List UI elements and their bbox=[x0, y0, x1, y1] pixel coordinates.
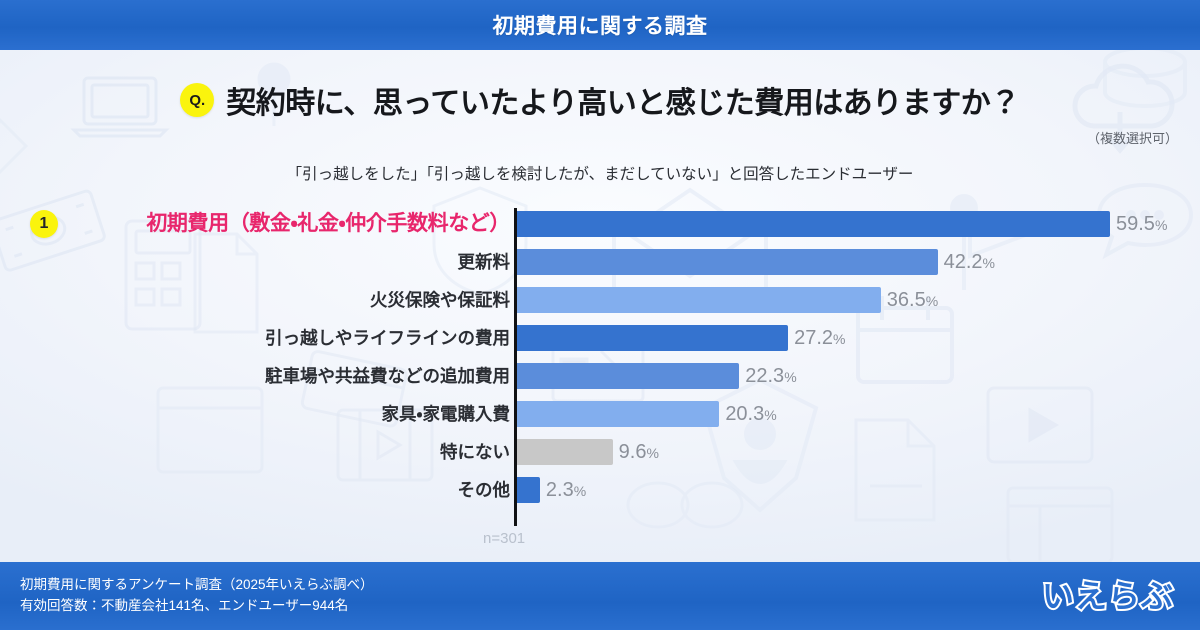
question-text: 契約時に、思っていたより高いと感じた費用はありますか？ bbox=[226, 78, 1020, 122]
chart-bar-value-number: 20.3 bbox=[725, 403, 764, 425]
chart-row-label: 引っ越しやライフラインの費用 bbox=[265, 325, 510, 351]
footer-source: 初期費用に関するアンケート調査（2025年いえらぶ調べ） 有効回答数：不動産会社… bbox=[20, 575, 374, 617]
chart-bar-value: 42.2% bbox=[944, 249, 995, 275]
chart-row: 特にない9.6% bbox=[0, 439, 1200, 465]
rank-badge: 1 bbox=[30, 210, 58, 238]
chart-bar bbox=[517, 401, 719, 427]
chart-row: 火災保険や保証料36.5% bbox=[0, 287, 1200, 313]
chart-row: 1初期費用（敷金・礼金・仲介手数料など）59.5% bbox=[0, 211, 1200, 237]
chart-bar bbox=[517, 439, 613, 465]
ielove-logo[interactable]: いえらぶ bbox=[1036, 576, 1180, 616]
chart-row-label: 火災保険や保証料 bbox=[370, 287, 510, 313]
chart-row-label: その他 bbox=[458, 477, 511, 503]
chart-row: 家具・家電購入費20.3% bbox=[0, 401, 1200, 427]
chart-bar-value-suffix: % bbox=[926, 293, 938, 309]
chart-row-label: 特にない bbox=[440, 439, 510, 465]
chart-bar-value-number: 36.5 bbox=[887, 289, 926, 311]
chart-bar-value-number: 2.3 bbox=[546, 479, 574, 501]
chart-row-label: 家具・家電購入費 bbox=[382, 401, 510, 427]
chart-bar-value: 22.3% bbox=[745, 363, 796, 389]
chart-bar bbox=[517, 363, 739, 389]
chart-subtitle: 「引っ越しをした」「引っ越しを検討したが、まだしていない」と回答したエンドユーザ… bbox=[0, 162, 1200, 184]
footer-bar: 初期費用に関するアンケート調査（2025年いえらぶ調べ） 有効回答数：不動産会社… bbox=[0, 562, 1200, 630]
sample-size-label: n=301 bbox=[483, 530, 525, 547]
chart-row-label: 更新料 bbox=[458, 249, 511, 275]
chart-bar bbox=[517, 249, 938, 275]
chart-bar-value-number: 59.5 bbox=[1116, 213, 1155, 235]
chart-bar-value-number: 9.6 bbox=[619, 441, 647, 463]
chart-bar-value-suffix: % bbox=[646, 445, 658, 461]
main-stage: Q. 契約時に、思っていたより高いと感じた費用はありますか？ （複数選択可） 「… bbox=[0, 50, 1200, 562]
page-title: 初期費用に関する調査 bbox=[493, 10, 708, 40]
chart-bar-value-number: 42.2 bbox=[944, 251, 983, 273]
chart-row-label: 初期費用（敷金・礼金・仲介手数料など） bbox=[146, 211, 510, 237]
chart-row: その他2.3% bbox=[0, 477, 1200, 503]
chart-bar-value-number: 27.2 bbox=[794, 327, 833, 349]
chart-row: 駐車場や共益費などの追加費用22.3% bbox=[0, 363, 1200, 389]
chart-bar-value: 20.3% bbox=[725, 401, 776, 427]
bar-chart: 1初期費用（敷金・礼金・仲介手数料など）59.5%更新料42.2%火災保険や保証… bbox=[0, 205, 1200, 525]
question-row: Q. 契約時に、思っていたより高いと感じた費用はありますか？ bbox=[0, 78, 1200, 122]
pen-icon bbox=[0, 110, 50, 200]
chart-row: 更新料42.2% bbox=[0, 249, 1200, 275]
chart-bar-value-suffix: % bbox=[983, 255, 995, 271]
chart-row: 引っ越しやライフラインの費用27.2% bbox=[0, 325, 1200, 351]
chart-bar-value-suffix: % bbox=[784, 369, 796, 385]
chart-bar bbox=[517, 211, 1110, 237]
question-badge: Q. bbox=[180, 83, 214, 117]
chart-bar-value-suffix: % bbox=[764, 407, 776, 423]
footer-line-2: 有効回答数：不動産会社141名、エンドユーザー944名 bbox=[20, 596, 374, 617]
chart-bar-value: 59.5% bbox=[1116, 211, 1167, 237]
chart-bar bbox=[517, 477, 540, 503]
multiple-choice-note: （複数選択可） bbox=[1087, 128, 1178, 147]
chart-bar-value: 36.5% bbox=[887, 287, 938, 313]
chart-bar-value: 2.3% bbox=[546, 477, 586, 503]
chart-row-label: 駐車場や共益費などの追加費用 bbox=[265, 363, 510, 389]
chart-bar bbox=[517, 287, 881, 313]
chart-bar-value-suffix: % bbox=[574, 483, 586, 499]
chart-bar-value-suffix: % bbox=[833, 331, 845, 347]
chart-bar-value: 27.2% bbox=[794, 325, 845, 351]
header-bar: 初期費用に関する調査 bbox=[0, 0, 1200, 50]
chart-bar-value-suffix: % bbox=[1155, 217, 1167, 233]
chart-bar bbox=[517, 325, 788, 351]
chart-bar-value-number: 22.3 bbox=[745, 365, 784, 387]
chart-bar-value: 9.6% bbox=[619, 439, 659, 465]
logo-text: いえらぶ bbox=[1042, 580, 1174, 612]
footer-line-1: 初期費用に関するアンケート調査（2025年いえらぶ調べ） bbox=[20, 575, 374, 596]
